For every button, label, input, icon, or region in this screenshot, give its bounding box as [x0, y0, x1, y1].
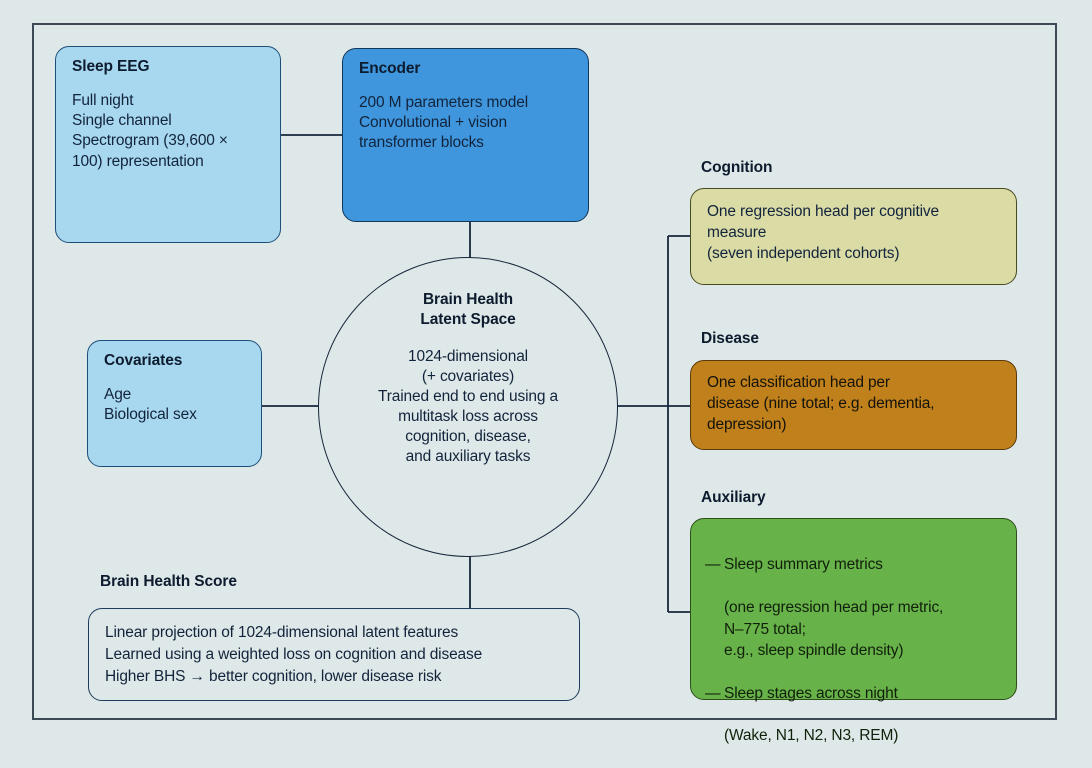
auxiliary-body: — Sleep summary metrics (one regression … [705, 533, 1002, 768]
auxiliary-item-2-detail: (Wake, N1, N2, N3, REM) [705, 725, 1002, 746]
spacer [104, 371, 247, 385]
latent-space-body: 1024-dimensional (+ covariates) Trained … [378, 347, 558, 468]
node-sleep-eeg[interactable]: Sleep EEG Full night Single channel Spec… [55, 46, 281, 243]
node-encoder[interactable]: Encoder 200 M parameters model Convoluti… [342, 48, 589, 222]
node-covariates[interactable]: Covariates Age Biological sex [87, 340, 262, 467]
label-auxiliary: Auxiliary [701, 489, 766, 507]
covariates-title: Covariates [104, 351, 247, 371]
em-dash-icon: — [705, 554, 724, 575]
spacer [359, 79, 574, 93]
diagram-canvas: Sleep EEG Full night Single channel Spec… [0, 0, 1092, 740]
auxiliary-item-1-head: Sleep summary metrics [724, 554, 883, 575]
label-brain-health-score: Brain Health Score [100, 573, 237, 591]
encoder-title: Encoder [359, 59, 574, 79]
latent-space-title: Brain Health Latent Space [420, 290, 515, 330]
node-brain-health-latent-space[interactable]: Brain Health Latent Space 1024-dimension… [318, 257, 618, 557]
covariates-body: Age Biological sex [104, 385, 247, 425]
spacer [72, 77, 266, 91]
disease-body: One classification head per disease (nin… [707, 372, 1002, 435]
auxiliary-item-2-head: Sleep stages across night [724, 683, 898, 704]
cognition-body: One regression head per cognitive measur… [707, 201, 1002, 264]
node-cognition[interactable]: One regression head per cognitive measur… [690, 188, 1017, 285]
auxiliary-item-1: — Sleep summary metrics [705, 554, 1002, 575]
node-brain-health-score[interactable]: Linear projection of 1024-dimensional la… [88, 608, 580, 701]
label-cognition: Cognition [701, 159, 772, 177]
auxiliary-item-1-detail: (one regression head per metric, N–775 t… [705, 597, 1002, 661]
brain-health-score-body: Linear projection of 1024-dimensional la… [105, 622, 565, 688]
sleep-eeg-title: Sleep EEG [72, 57, 266, 77]
sleep-eeg-body: Full night Single channel Spectrogram (3… [72, 91, 266, 172]
label-disease: Disease [701, 330, 759, 348]
em-dash-icon: — [705, 683, 724, 704]
node-auxiliary[interactable]: — Sleep summary metrics (one regression … [690, 518, 1017, 700]
encoder-body: 200 M parameters model Convolutional + v… [359, 93, 574, 153]
node-disease[interactable]: One classification head per disease (nin… [690, 360, 1017, 450]
auxiliary-item-2: — Sleep stages across night [705, 683, 1002, 704]
